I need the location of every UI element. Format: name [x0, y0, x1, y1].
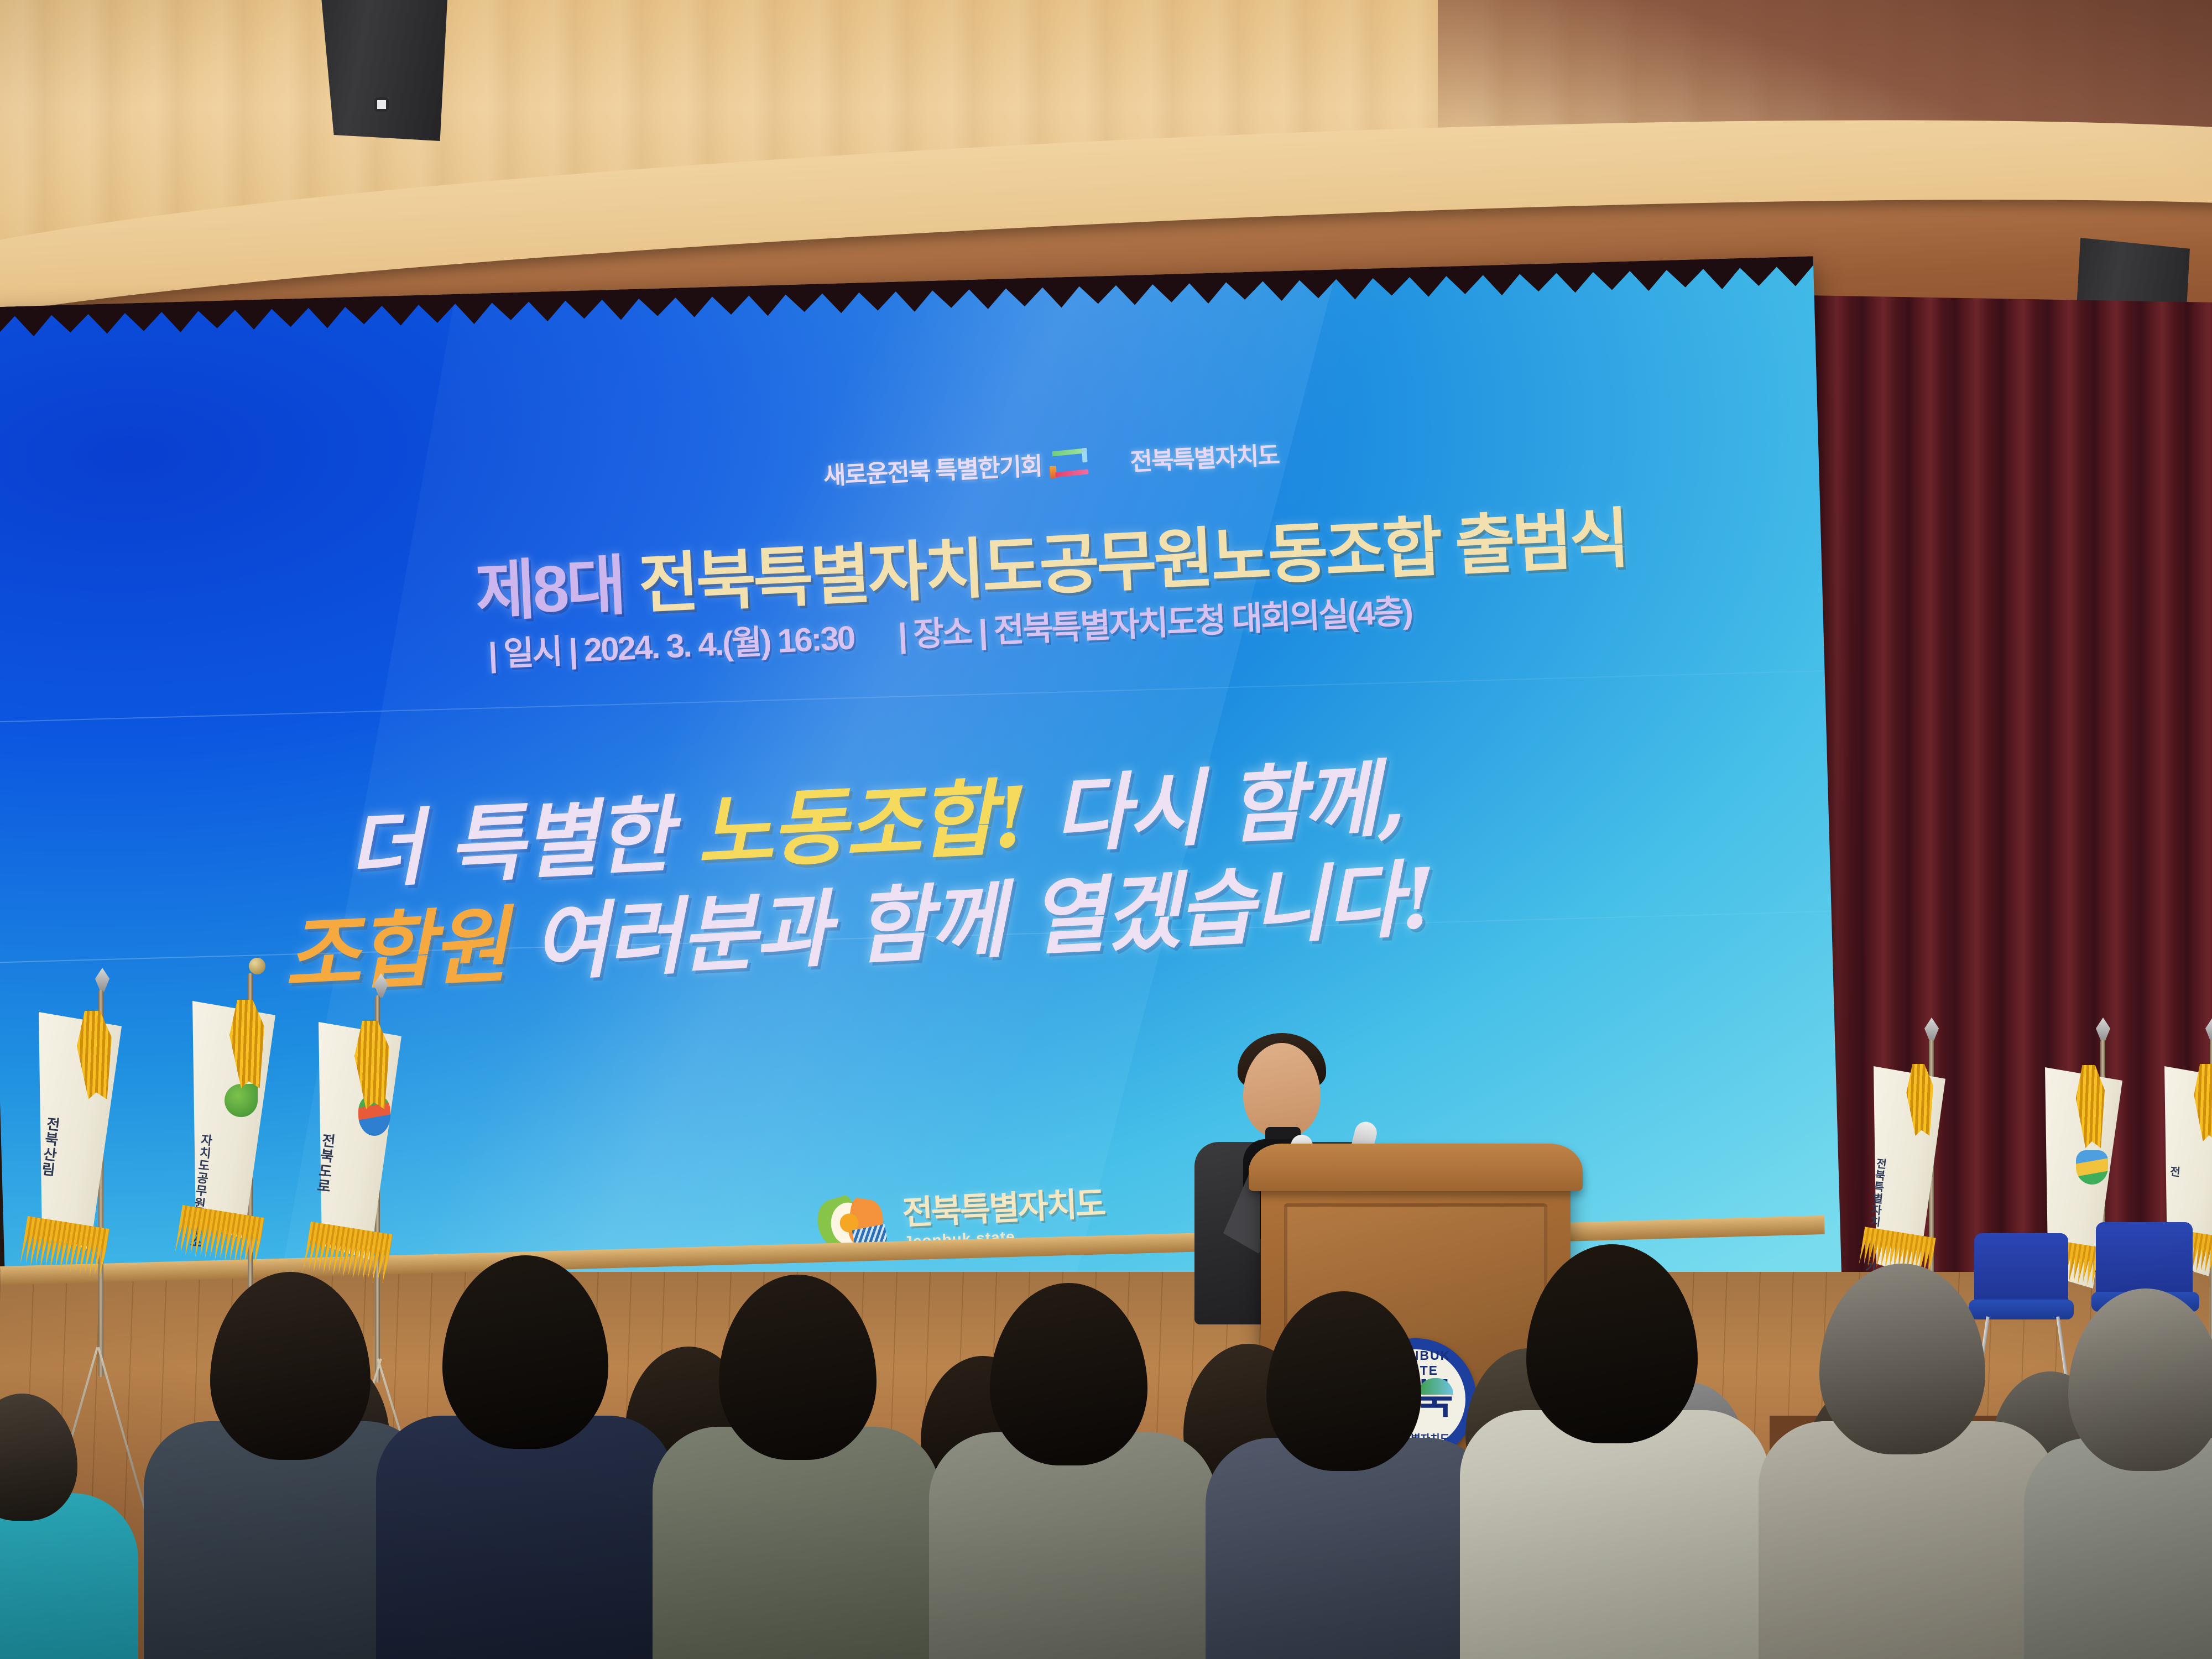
attendee-shoulders	[376, 1416, 675, 1659]
banner-top-org: 전북특별자치도	[1129, 435, 1280, 477]
flag-label-line1: 전	[2169, 1166, 2180, 1179]
flag-emblem-icon	[225, 1084, 258, 1117]
script2-part-b: 여러분과 함께	[530, 872, 1006, 993]
attendee-shoulders	[2024, 1438, 2212, 1659]
attendee-shoulders	[1206, 1438, 1493, 1659]
banner-title-prefix: 제8대	[474, 550, 625, 629]
attendee-shoulders	[1759, 1421, 2057, 1659]
stage-chair-2	[2096, 1222, 2193, 1297]
jbl-speaker-left	[315, 0, 448, 141]
ceremony-photo-scene: 새로운전북 특별한기회 전북특별자치도 제8대 전북특별자치도공무원노동조합 출…	[0, 0, 2212, 1659]
jbl-logo-icon	[374, 97, 389, 112]
attendee-shoulders	[653, 1427, 940, 1659]
jeonbuk-brand-icon	[1048, 448, 1093, 481]
flag-emblem-icon	[2076, 1150, 2108, 1185]
podium-top-ledge	[1249, 1144, 1583, 1191]
script2-part-a: 조합원	[281, 896, 508, 1005]
flag-finial-icon	[249, 958, 265, 974]
banner-top-org-text: 전북특별자치도	[1129, 435, 1280, 477]
banner-footer-kr: 전북특별자치도	[902, 1187, 1105, 1230]
attendee-shoulders	[1460, 1410, 1770, 1659]
flag-label: 전	[2169, 1166, 2180, 1179]
stage-chair-1	[1974, 1233, 2068, 1305]
banner-date-label: | 일시 |	[487, 632, 577, 673]
banner-place-label: | 장소 |	[897, 613, 987, 654]
script2-part-c: 열겠습니다!	[1027, 849, 1437, 967]
attendee-shoulders	[929, 1432, 1217, 1659]
